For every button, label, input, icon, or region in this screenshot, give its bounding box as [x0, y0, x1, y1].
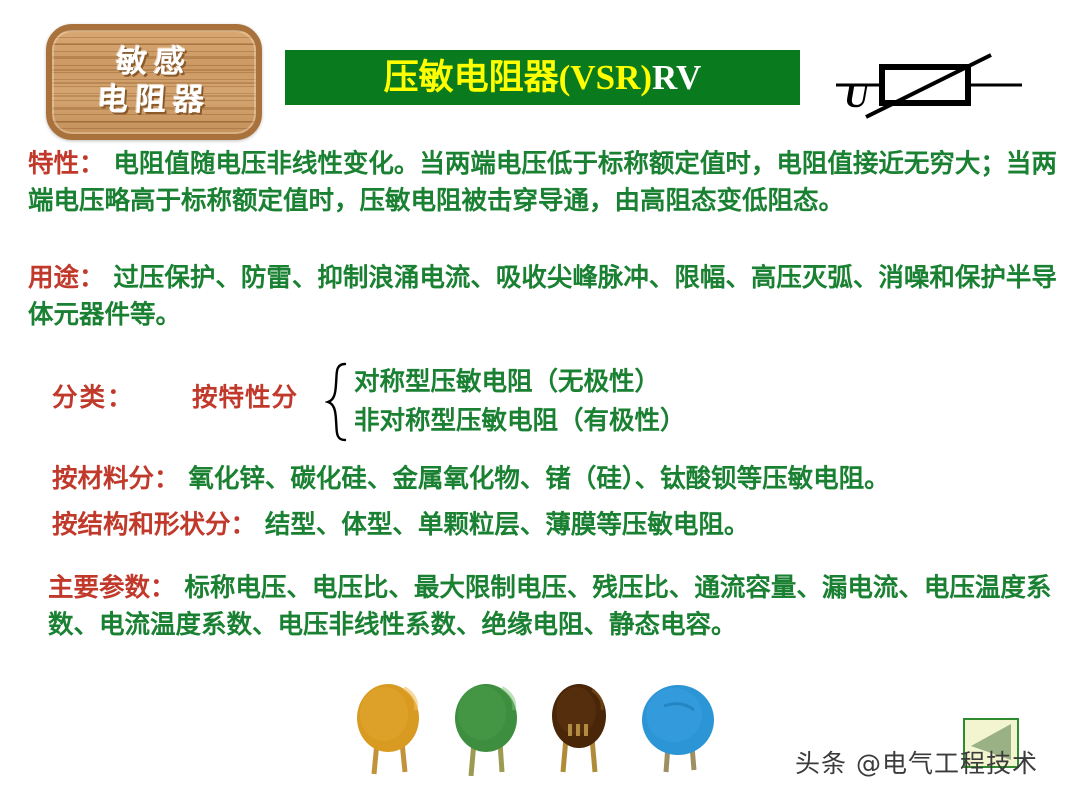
classification-label: 分类： — [52, 377, 135, 414]
characteristics-label: 特性： — [28, 149, 105, 179]
varistor-disc-blue-svg — [638, 680, 718, 776]
varistor-disc-orange — [352, 680, 424, 776]
section-characteristics: 特性： 电阻值随电压非线性变化。当两端电压低于标称额定值时，电阻值接近无穷大；当… — [28, 146, 1062, 220]
section-by-material: 按材料分： 氧化锌、碳化硅、金属氧化物、锗（硅）、钛酸钡等压敏电阻。 — [52, 460, 1062, 498]
component-photo-strip — [352, 676, 732, 776]
by-material-text: 氧化锌、碳化硅、金属氧化物、锗（硅）、钛酸钡等压敏电阻。 — [188, 464, 889, 494]
curly-brace-icon — [325, 362, 351, 442]
varistor-symbol-svg: U — [826, 45, 1066, 125]
main-parameters-text: 标称电压、电压比、最大限制电压、残压比、通流容量、漏电流、电压温度系数、电流温度… — [48, 573, 1051, 640]
title-code: RV — [652, 58, 701, 97]
section-by-structure: 按结构和形状分： 结型、体型、单颗粒层、薄膜等压敏电阻。 — [52, 506, 1062, 544]
title-chinese: 压敏电阻器 — [384, 58, 559, 97]
classification-item-1: 非对称型压敏电阻（有极性） — [354, 402, 686, 441]
section-uses: 用途： 过压保护、防雷、抑制浪涌电流、吸收尖峰脉冲、限幅、高压灭弧、消噪和保护半… — [28, 260, 1062, 334]
plaque-line-2: 电阻器 — [96, 82, 213, 120]
varistor-disc-green-svg — [450, 680, 522, 776]
main-parameters-label: 主要参数： — [48, 573, 176, 603]
uses-text: 过压保护、防雷、抑制浪涌电流、吸收尖峰脉冲、限幅、高压灭弧、消噪和保护半导体元器… — [28, 263, 1057, 330]
varistor-disc-brown-svg — [548, 680, 610, 776]
varistor-disc-blue — [638, 680, 718, 776]
section-main-parameters: 主要参数： 标称电压、电压比、最大限制电压、残压比、通流容量、漏电流、电压温度系… — [48, 570, 1062, 644]
plaque-line-1: 敏感 — [115, 44, 194, 82]
title-abbreviation: (VSR) — [559, 58, 652, 97]
classification-item-0: 对称型压敏电阻（无极性） — [354, 363, 686, 402]
title-banner: 压敏电阻器(VSR)RV — [285, 50, 800, 105]
page-title: 压敏电阻器(VSR)RV — [384, 60, 702, 95]
characteristics-text: 电阻值随电压非线性变化。当两端电压低于标称额定值时，电阻值接近无穷大；当两端电压… — [28, 149, 1057, 216]
varistor-disc-brown — [548, 680, 610, 776]
curly-brace-svg — [325, 362, 351, 442]
wooden-plaque-badge: 敏感 电阻器 — [46, 24, 262, 140]
by-material-label: 按材料分： — [52, 464, 180, 494]
classification-by-characteristic-label: 按特性分 — [192, 377, 298, 414]
watermark-text: 头条 @电气工程技术 — [795, 744, 1038, 780]
classification-items: 对称型压敏电阻（无极性） 非对称型压敏电阻（有极性） — [354, 363, 686, 441]
slide-header: 敏感 电阻器 压敏电阻器(VSR)RV U — [0, 0, 1080, 148]
varistor-symbol: U — [826, 45, 1066, 125]
by-structure-text: 结型、体型、单颗粒层、薄膜等压敏电阻。 — [265, 510, 750, 540]
by-structure-label: 按结构和形状分： — [52, 510, 256, 540]
slide-root: 敏感 电阻器 压敏电阻器(VSR)RV U 特性： 电阻值随电压非线性变化。当两… — [0, 0, 1080, 810]
symbol-voltage-label: U — [844, 78, 871, 115]
varistor-disc-green — [450, 680, 522, 776]
section-classification: 分类： 按特性分 对称型压敏电阻（无极性） 非对称型压敏电阻（有极性） — [52, 361, 1052, 443]
uses-label: 用途： — [28, 263, 105, 293]
varistor-disc-orange-svg — [352, 680, 424, 776]
